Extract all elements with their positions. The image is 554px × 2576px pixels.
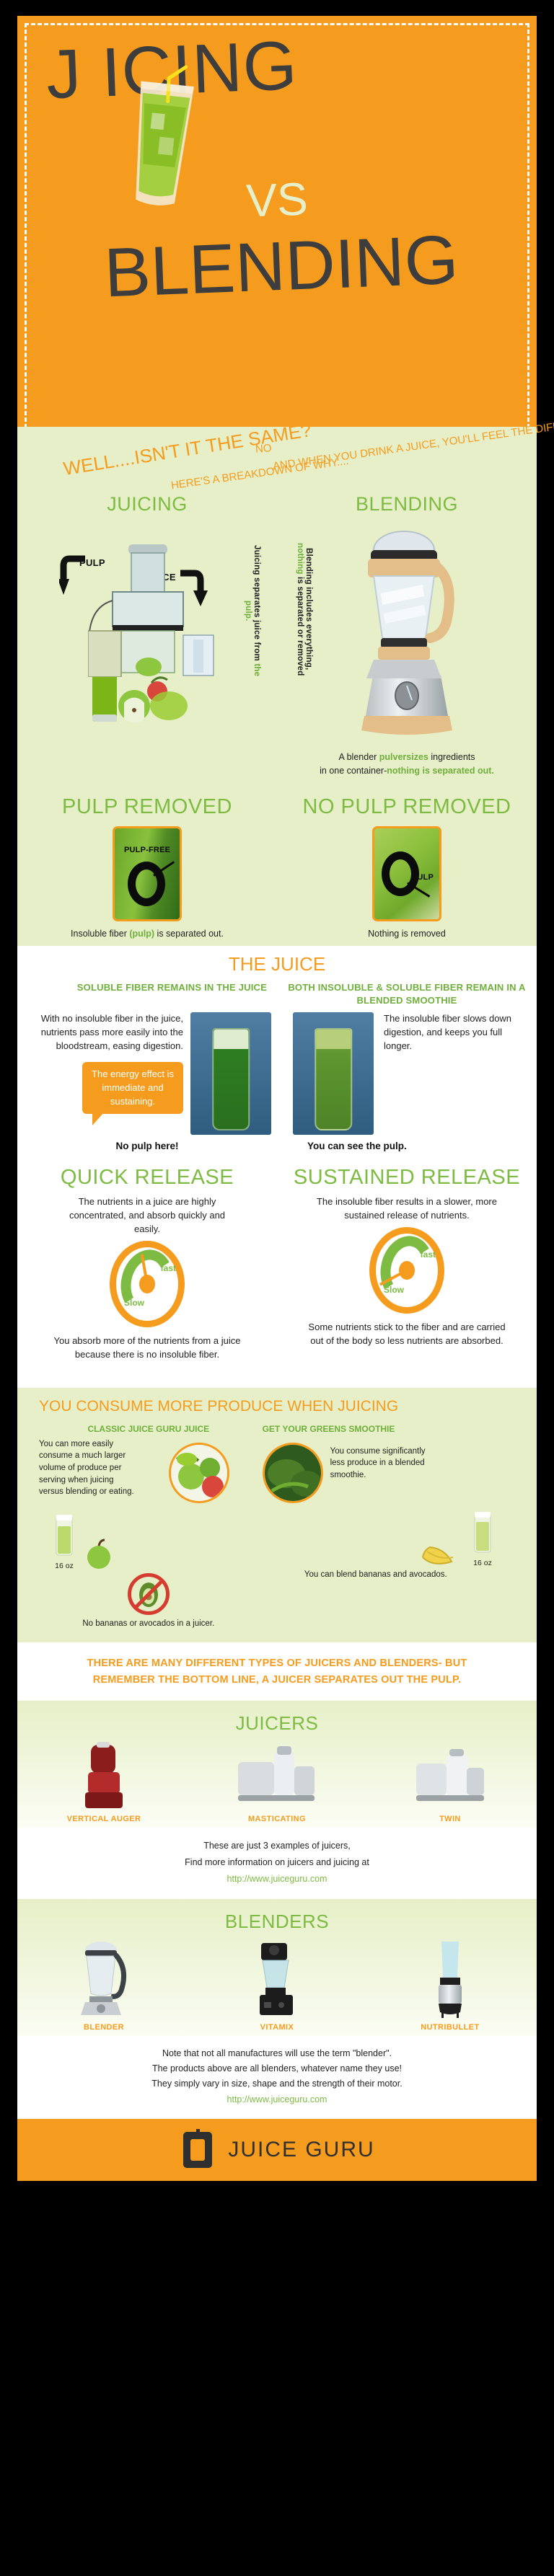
blenders-note: Note that not all manufactures will use …: [17, 2036, 537, 2119]
pulp-free-label: PULP-FREE: [124, 846, 170, 854]
heading-juicing: JUICING: [17, 493, 277, 515]
blender-item-0: BLENDER: [17, 1940, 190, 2032]
blender-item-2: NUTRIBULLET: [364, 1940, 537, 2032]
note-see-pulp: You can see the pulp.: [277, 1141, 537, 1151]
juice-photo: [190, 1012, 271, 1135]
pulp-right-caption: Nothing is removed: [277, 927, 537, 941]
hero-title-line1: J ICING: [41, 25, 519, 107]
gauge-fast-label: fast: [421, 1249, 436, 1260]
juicer-label-0: VERTICAL AUGER: [17, 1815, 190, 1823]
blender-label-2: NUTRIBULLET: [364, 2023, 537, 2032]
vitamix-blender-icon: [247, 1940, 307, 2019]
heading-the-juice: THE JUICE: [17, 946, 537, 975]
pulp-thumbnail: PULP: [372, 826, 441, 921]
quick-release-footer: You absorb more of the nutrients from a …: [17, 1330, 277, 1373]
sustained-release-footer: Some nutrients stick to the fiber and ar…: [277, 1316, 537, 1360]
right-size-label: 16 oz: [470, 1559, 495, 1567]
blender-item-1: VITAMIX: [190, 1940, 364, 2032]
gauge-hub: [139, 1275, 155, 1293]
blender-caption: A blender pulversizes ingredients in one…: [277, 751, 537, 778]
juicer-label-1: MASTICATING: [190, 1815, 364, 1823]
sustained-release-body: The insoluble fiber results in a slower,…: [277, 1190, 537, 1223]
hero-banner: J ICING VS BLENDING: [17, 16, 537, 427]
heading-quick-release: QUICK RELEASE: [17, 1166, 277, 1190]
smoothie-produce-circle: [263, 1443, 323, 1503]
subheading-both-fiber: BOTH INSOLUBLE & SOLUBLE FIBER REMAIN IN…: [287, 981, 527, 1006]
bottom-line-2: REMEMBER THE BOTTOM LINE, A JUICER SEPAR…: [46, 1672, 508, 1688]
juicer-illustration: PULP JUICE: [17, 520, 277, 678]
classic-blender-icon: [74, 1940, 134, 2019]
produce-section: YOU CONSUME MORE PRODUCE WHEN JUICING CL…: [17, 1388, 537, 1643]
compare-section: WELL....ISN'T IT THE SAME? NO AND WHEN Y…: [17, 427, 537, 946]
bottom-line-1: THERE ARE MANY DIFFERENT TYPES OF JUICER…: [46, 1655, 508, 1672]
juice-produce-circle: [169, 1443, 229, 1503]
juicers-note-1: These are just 3 examples of juicers,: [50, 1838, 504, 1854]
juicer-item-1: MASTICATING: [190, 1742, 364, 1823]
gauge-slow-label: Slow: [384, 1285, 404, 1295]
juice-guru-logo-icon: [179, 2129, 216, 2171]
nutribullet-icon: [420, 1940, 480, 2019]
juice-glass-small-icon: [52, 1513, 76, 1558]
juicer-machine-icon: [88, 540, 218, 677]
blender-vertical-caption: Blending includes everything, nothing is…: [296, 540, 313, 678]
smoothie-glass-small-icon: [470, 1510, 495, 1555]
heading-blenders: BLENDERS: [17, 1911, 537, 1933]
greens-cluster-icon: [265, 1445, 323, 1503]
juicers-section: JUICERS VERTICAL AUGER: [17, 1701, 537, 1899]
pulp-free-thumbnail: PULP-FREE: [113, 826, 182, 921]
twin-juicer-icon: [410, 1742, 490, 1811]
blender-illustration: Blending includes everything, nothing is…: [277, 520, 537, 678]
no-bananas-icon: [128, 1573, 170, 1615]
heading-blending: BLENDING: [277, 493, 537, 515]
left-size-label: 16 oz: [52, 1562, 76, 1570]
blenders-link[interactable]: http://www.juiceguru.com: [50, 2092, 504, 2107]
heading-juicers: JUICERS: [17, 1712, 537, 1735]
hero-title-blending: BLENDING: [35, 223, 527, 311]
hero-title-juicing: J ICING: [41, 25, 519, 107]
smoothie-photo: [293, 1012, 374, 1135]
quick-release-body: The nutrients in a juice are highly conc…: [17, 1190, 277, 1236]
gauge-fast-label: fast: [161, 1263, 176, 1273]
vertical-auger-juicer-icon: [78, 1742, 130, 1811]
bottom-line-section: THERE ARE MANY DIFFERENT TYPES OF JUICER…: [17, 1642, 537, 1700]
produce-left-body: You can more easily consume a much large…: [39, 1438, 140, 1498]
gauge-slow-label: Slow: [124, 1298, 144, 1308]
masticating-juicer-icon: [234, 1742, 320, 1811]
tagline-no: NO: [255, 442, 272, 456]
blender-base-icon: [353, 676, 461, 745]
apple-icon: [84, 1539, 114, 1570]
produce-pile-icon: [82, 674, 212, 729]
gauge-quick: fast Slow: [110, 1241, 185, 1327]
juice-left-body: With no insoluble fiber in the juice, nu…: [26, 1012, 183, 1053]
juicer-vertical-caption: Juicing separates juice from the pulp.: [244, 543, 261, 678]
juice-right-body: The insoluble fiber slows down digestion…: [384, 1012, 521, 1053]
no-banana-caption: No bananas or avocados in a juicer.: [39, 1618, 258, 1630]
blender-label-1: VITAMIX: [190, 2023, 364, 2032]
footer-brand-name: JUICE GURU: [228, 2138, 374, 2162]
juicer-item-0: VERTICAL AUGER: [17, 1742, 190, 1823]
the-juice-section: THE JUICE SOLUBLE FIBER REMAINS IN THE J…: [17, 946, 537, 1387]
blender-label-0: BLENDER: [17, 2023, 190, 2032]
infographic-page: J ICING VS BLENDING WELL....ISN'T IT THE…: [0, 0, 554, 2576]
blender-machine-icon: [349, 530, 465, 678]
bananas-icon: [420, 1536, 462, 1567]
juicers-note-2: Find more information on juicers and jui…: [50, 1854, 504, 1871]
blenders-note-2: The products above are all blenders, wha…: [50, 2061, 504, 2076]
tagline-block: WELL....ISN'T IT THE SAME? NO AND WHEN Y…: [17, 427, 537, 489]
note-no-pulp: No pulp here!: [17, 1141, 277, 1151]
juicer-item-2: TWIN: [364, 1742, 537, 1823]
pulp-left-caption: Insoluble fiber (pulp) is separated out.: [17, 927, 277, 941]
heading-consume-more-produce: YOU CONSUME MORE PRODUCE WHEN JUICING: [17, 1398, 537, 1415]
yes-banana-caption: You can blend bananas and avocados.: [258, 1569, 515, 1581]
gauge-hub: [399, 1261, 415, 1280]
pulp-label: PULP: [412, 873, 434, 882]
produce-cluster-icon: [171, 1445, 229, 1503]
arrow-pulp-icon: [59, 554, 89, 598]
juicer-label-2: TWIN: [364, 1815, 537, 1823]
heading-pulp-removed: PULP REMOVED: [17, 795, 277, 819]
compare-headings: JUICING BLENDING: [17, 489, 537, 515]
heading-sustained-release: SUSTAINED RELEASE: [277, 1166, 537, 1190]
circle-slash-icon: [128, 862, 165, 906]
subheading-soluble-fiber: SOLUBLE FIBER REMAINS IN THE JUICE: [27, 981, 267, 994]
blenders-note-3: They simply vary in size, shape and the …: [50, 2076, 504, 2092]
juicers-link[interactable]: http://www.juiceguru.com: [50, 1871, 504, 1887]
footer-brand-bar: JUICE GURU: [17, 2119, 537, 2181]
energy-effect-bubble: The energy effect is immediate and susta…: [82, 1062, 183, 1115]
produce-right-body: You consume significantly less produce i…: [330, 1438, 439, 1482]
heading-no-pulp-removed: NO PULP REMOVED: [277, 795, 537, 819]
blenders-note-1: Note that not all manufactures will use …: [50, 2046, 504, 2061]
subheading-classic-juice: CLASSIC JUICE GURU JUICE: [39, 1424, 258, 1434]
tagline-breakdown: HERE'S A BREAKDOWN OF WHY....: [170, 455, 349, 492]
avocado-icon: [133, 1579, 164, 1609]
gauge-sustained: fast Slow: [369, 1227, 444, 1314]
subheading-greens-smoothie: GET YOUR GREENS SMOOTHIE: [258, 1424, 515, 1434]
blenders-section: BLENDERS BLENDER: [17, 1899, 537, 2119]
juicers-note: These are just 3 examples of juicers, Fi…: [17, 1828, 537, 1899]
